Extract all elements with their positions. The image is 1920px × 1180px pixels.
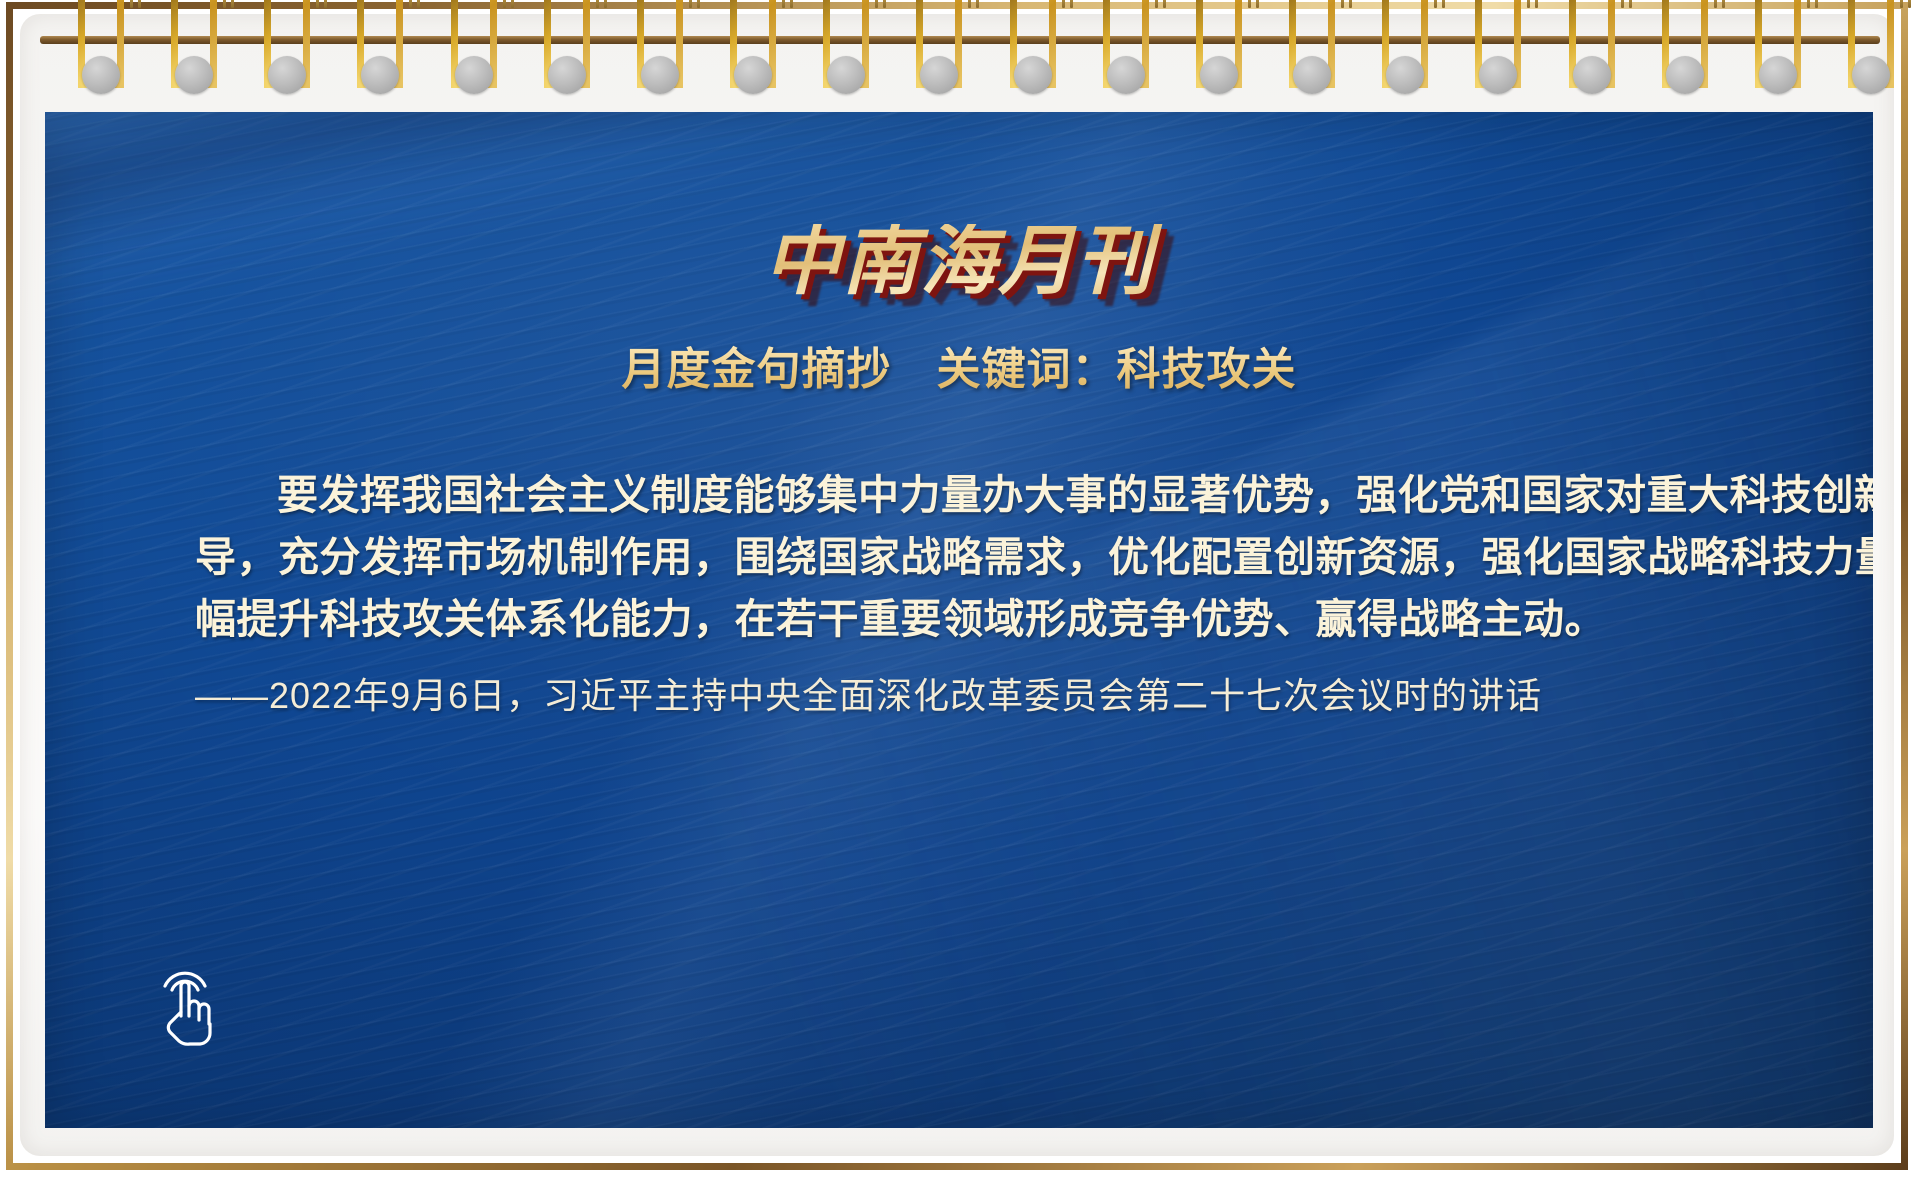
binding-tick — [1349, 0, 1352, 8]
blue-content-panel: 中南海月刊 月度金句摘抄 关键词：科技攻关 要发挥我国社会主义制度能够集中力量办… — [45, 112, 1873, 1128]
binding-tick — [1527, 0, 1530, 8]
binding-tick — [223, 0, 226, 8]
quote-line-1: 要发挥我国社会主义制度能够集中力量办大事的显著优势，强化党和国家对重大科技创新的… — [195, 464, 1795, 526]
binding-tick — [1900, 0, 1903, 8]
binding-tick — [1908, 0, 1911, 8]
binding-tick — [596, 0, 599, 8]
slide-stage: 中南海月刊 月度金句摘抄 关键词：科技攻关 要发挥我国社会主义制度能够集中力量办… — [0, 0, 1920, 1180]
binding-tick — [138, 0, 141, 8]
binding-tick — [324, 0, 327, 8]
binding-tick — [1070, 0, 1073, 8]
binding-tick — [782, 0, 785, 8]
binding-tick — [1629, 0, 1632, 8]
binding-tick — [1442, 0, 1445, 8]
panel-content: 中南海月刊 月度金句摘抄 关键词：科技攻关 要发挥我国社会主义制度能够集中力量办… — [45, 112, 1873, 1128]
binding-tick — [1256, 0, 1259, 8]
binding-tick — [1155, 0, 1158, 8]
binding-tick — [883, 0, 886, 8]
binding-tick — [697, 0, 700, 8]
binding-tick — [1815, 0, 1818, 8]
binding-tick — [503, 0, 506, 8]
binding-tick — [1722, 0, 1725, 8]
binding-tick — [1807, 0, 1810, 8]
quote-attribution: ——2022年9月6日，习近平主持中央全面深化改革委员会第二十七次会议时的讲话 — [195, 672, 1795, 720]
binding-tick — [1434, 0, 1437, 8]
binding-tick — [976, 0, 979, 8]
binding-tick — [1535, 0, 1538, 8]
binding-tick — [790, 0, 793, 8]
binding-tick — [604, 0, 607, 8]
binding-tick — [1248, 0, 1251, 8]
quote-line-3: 幅提升科技攻关体系化能力，在若干重要领域形成竞争优势、赢得战略主动。 — [195, 588, 1795, 650]
subtitle-keyword-line: 月度金句摘抄 关键词：科技攻关 — [45, 344, 1873, 397]
binding-tick — [1714, 0, 1717, 8]
binding-tick — [1062, 0, 1065, 8]
tap-gesture-icon[interactable] — [150, 968, 220, 1046]
binding-tick — [316, 0, 319, 8]
binding-tick — [130, 0, 133, 8]
quote-line-2: 导，充分发挥市场机制作用，围绕国家战略需求，优化配置创新资源，强化国家战略科技力… — [195, 526, 1795, 588]
binding-tick — [689, 0, 692, 8]
binding-tick — [968, 0, 971, 8]
binding-tick — [409, 0, 412, 8]
binding-tick — [1341, 0, 1344, 8]
binding-tick — [511, 0, 514, 8]
tap-gesture-glyph — [150, 968, 220, 1046]
binding-tick — [875, 0, 878, 8]
binding-tick — [1621, 0, 1624, 8]
binding-tick — [1163, 0, 1166, 8]
binding-tick — [417, 0, 420, 8]
binding-tick — [231, 0, 234, 8]
quote-block: 要发挥我国社会主义制度能够集中力量办大事的显著优势，强化党和国家对重大科技创新的… — [195, 464, 1795, 650]
masthead-title: 中南海月刊 — [45, 224, 1873, 300]
